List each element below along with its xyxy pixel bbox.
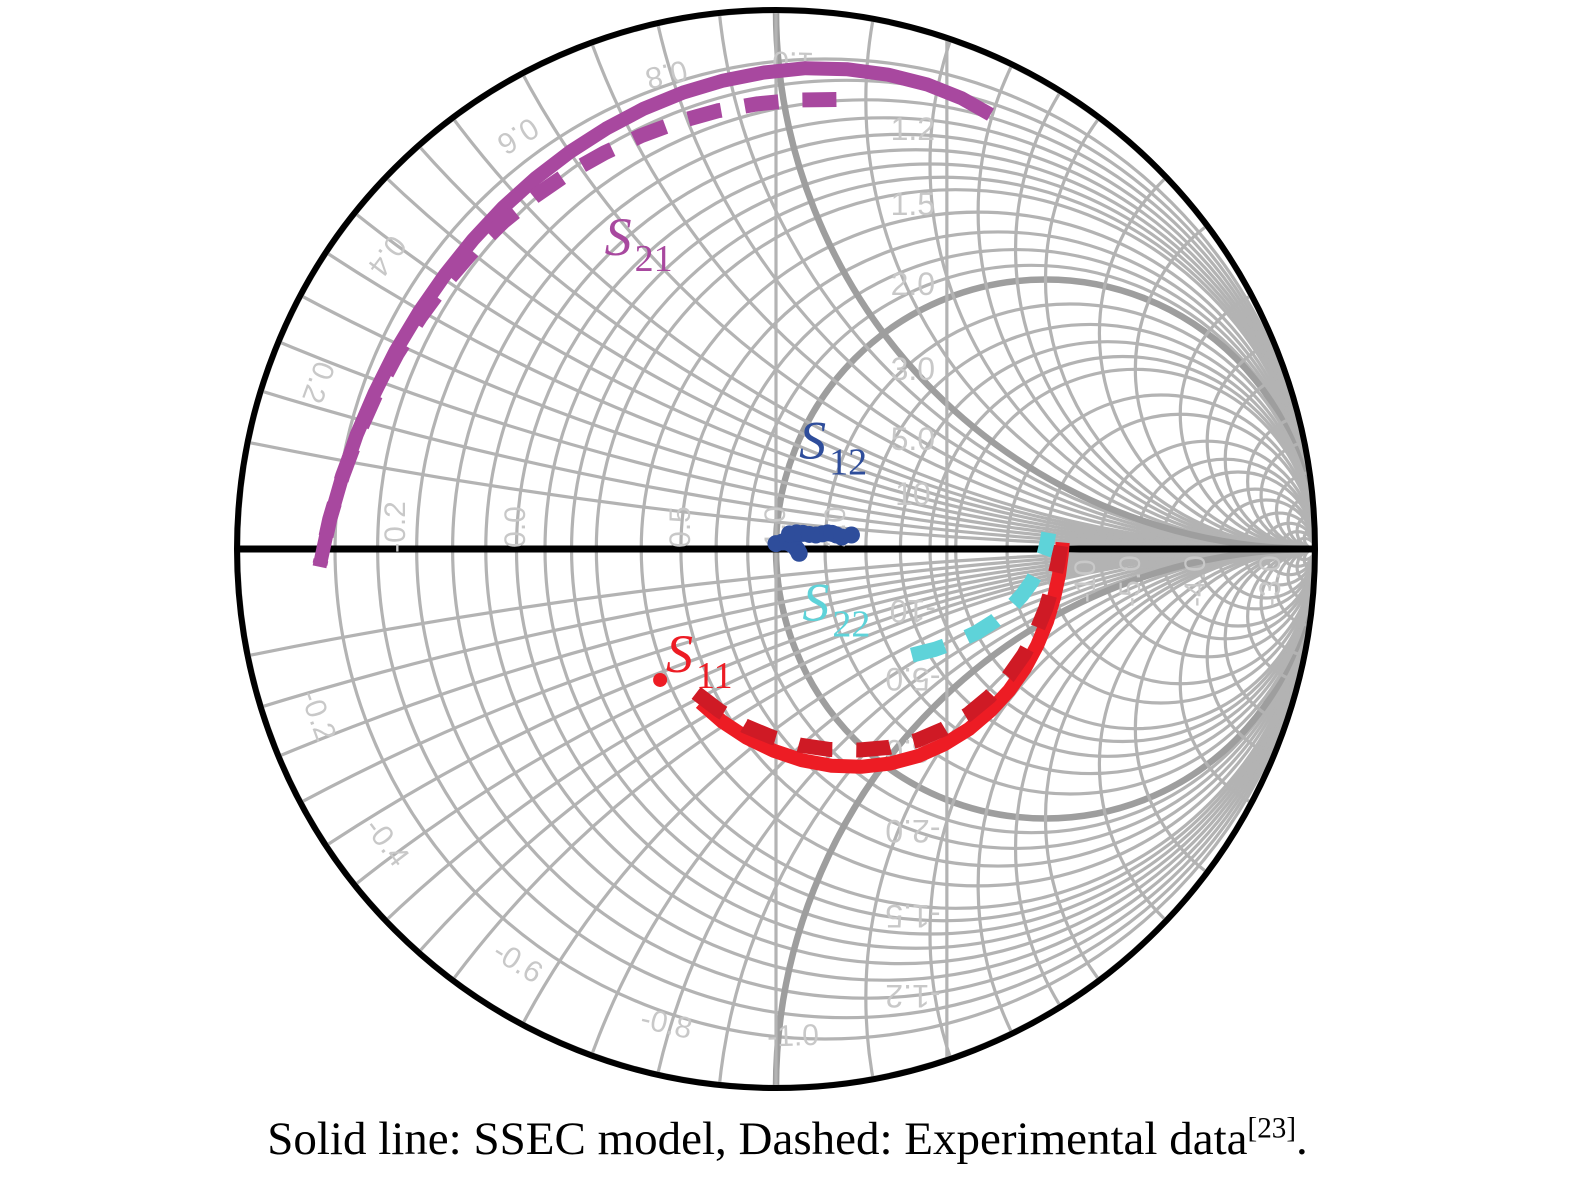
grid-tick-label: -10 xyxy=(890,593,936,629)
annotation-label-base: S xyxy=(802,573,829,633)
grid-tick-label: 1.2 xyxy=(891,111,935,147)
annotation-label-subscript: 11 xyxy=(696,655,733,697)
grid-tick-label: 10 xyxy=(895,476,931,512)
grid-tick-label: -2.0 xyxy=(885,813,940,849)
figure-caption: Solid line: SSEC model, Dashed: Experime… xyxy=(0,1112,1575,1166)
grid-tick-label: -1.2 xyxy=(885,978,940,1014)
grid-tick-label: 5.0 xyxy=(891,421,935,457)
data-point-s12 xyxy=(791,545,808,562)
grid-tick-label: -5.0 xyxy=(1114,555,1147,607)
grid-tick-label: -0.2 xyxy=(379,501,412,553)
annotation-label-base: S xyxy=(605,207,632,267)
grid-tick-label: 2.0 xyxy=(891,266,935,302)
grid-tick-label: -4.0 xyxy=(1179,555,1212,607)
smith-chart-plot: 0.20.40.60.81.01.21.52.03.05.010-1.2-1.5… xyxy=(0,0,1575,1110)
annotation-label-subscript: 22 xyxy=(832,604,870,646)
grid-tick-label: -1.5 xyxy=(885,898,940,934)
annotation-label-subscript: 21 xyxy=(635,238,673,280)
grid-tick-label: -1.0 xyxy=(767,1019,820,1054)
grid-tick-label: -5.0 xyxy=(885,661,940,697)
annotation-label-base: S xyxy=(799,410,826,470)
data-point-s12 xyxy=(843,526,860,543)
grid-tick-label: -10 xyxy=(1069,559,1102,602)
series-marker-s11 xyxy=(653,673,667,687)
grid-tick-label: -3.0 xyxy=(1254,555,1287,607)
annotation-label-base: S xyxy=(666,624,693,684)
caption-reference: [23] xyxy=(1248,1112,1297,1144)
caption-text: Solid line: SSEC model, Dashed: Experime… xyxy=(267,1113,1247,1165)
grid-tick-label: 0.0 xyxy=(499,506,532,548)
caption-period: . xyxy=(1296,1113,1308,1165)
smith-chart-figure: 0.20.40.60.81.01.21.52.03.05.010-1.2-1.5… xyxy=(0,0,1575,1203)
annotation-label-subscript: 12 xyxy=(829,441,867,483)
grid-tick-label: 3.0 xyxy=(891,351,935,387)
grid-tick-label: 0.5 xyxy=(664,506,697,548)
grid-tick-label: 1.5 xyxy=(891,186,935,222)
